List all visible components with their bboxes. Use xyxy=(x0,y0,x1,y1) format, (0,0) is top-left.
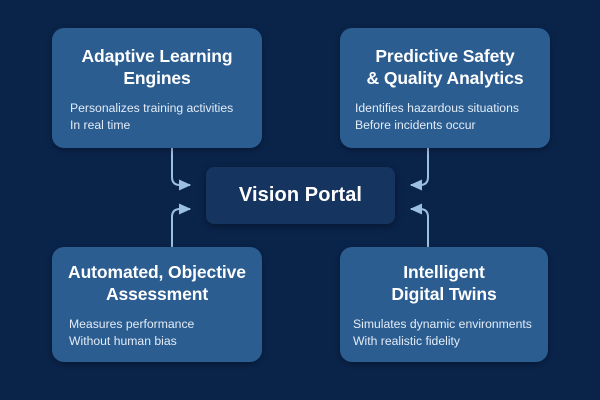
card-title: Adaptive Learning Engines xyxy=(82,45,233,89)
card-adaptive-learning-engines[interactable]: Adaptive Learning Engines Personalizes t… xyxy=(52,28,262,148)
hub-vision-portal[interactable]: Vision Portal xyxy=(206,167,395,224)
card-title: Predictive Safety & Quality Analytics xyxy=(367,45,524,89)
card-automated-objective-assessment[interactable]: Automated, Objective Assessment Measures… xyxy=(52,247,262,362)
card-body: Simulates dynamic environments With real… xyxy=(350,316,532,351)
connector-bottom-left xyxy=(172,209,190,247)
diagram-canvas: Adaptive Learning Engines Personalizes t… xyxy=(0,0,600,400)
connector-bottom-right xyxy=(411,209,428,247)
card-predictive-safety-quality-analytics[interactable]: Predictive Safety & Quality Analytics Id… xyxy=(340,28,550,148)
card-body: Personalizes training activities In real… xyxy=(66,100,233,135)
card-intelligent-digital-twins[interactable]: Intelligent Digital Twins Simulates dyna… xyxy=(340,247,548,362)
card-title: Automated, Objective Assessment xyxy=(68,261,246,305)
hub-title: Vision Portal xyxy=(239,184,362,207)
card-body: Measures performance Without human bias xyxy=(64,316,194,351)
connector-top-left xyxy=(172,148,190,185)
connector-top-right xyxy=(411,148,428,185)
card-body: Identifies hazardous situations Before i… xyxy=(352,100,519,135)
card-title: Intelligent Digital Twins xyxy=(391,261,496,305)
